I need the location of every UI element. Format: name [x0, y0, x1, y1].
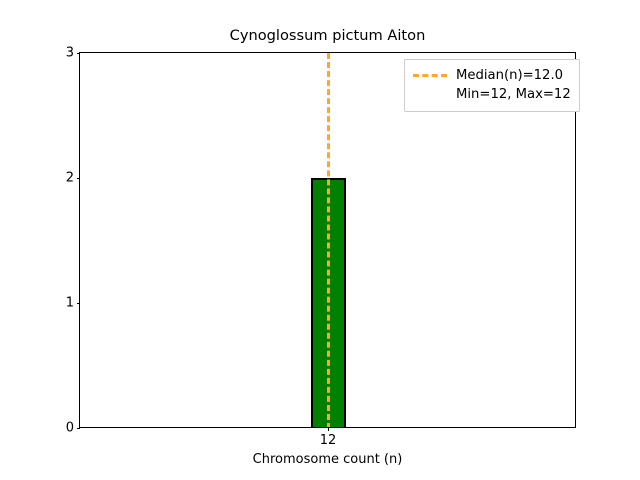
- median-line: [327, 53, 330, 427]
- x-axis-label: Chromosome count (n): [79, 452, 576, 467]
- legend-label-minmax: Min=12, Max=12: [456, 85, 571, 104]
- y-tick-label-1: 1: [66, 297, 74, 310]
- x-tick-mark-12: [328, 427, 329, 431]
- blank-swatch-icon: [413, 93, 447, 96]
- y-tick-label-3: 3: [66, 47, 74, 60]
- y-tick-label-0: 0: [66, 422, 74, 435]
- y-tick-mark-0: [77, 428, 81, 429]
- chart-figure: Cynoglossum pictum Aiton 0 1 2 3 12 Chro…: [0, 0, 640, 480]
- legend-item-minmax: Min=12, Max=12: [413, 85, 571, 104]
- y-tick-label-2: 2: [66, 172, 74, 185]
- x-tick-label-12: 12: [320, 434, 337, 448]
- legend-item-median: Median(n)=12.0: [413, 66, 571, 85]
- chart-title: Cynoglossum pictum Aiton: [79, 27, 576, 45]
- legend-label-median: Median(n)=12.0: [456, 66, 563, 85]
- legend-box: Median(n)=12.0 Min=12, Max=12: [404, 59, 580, 112]
- dashed-line-icon: [413, 74, 447, 77]
